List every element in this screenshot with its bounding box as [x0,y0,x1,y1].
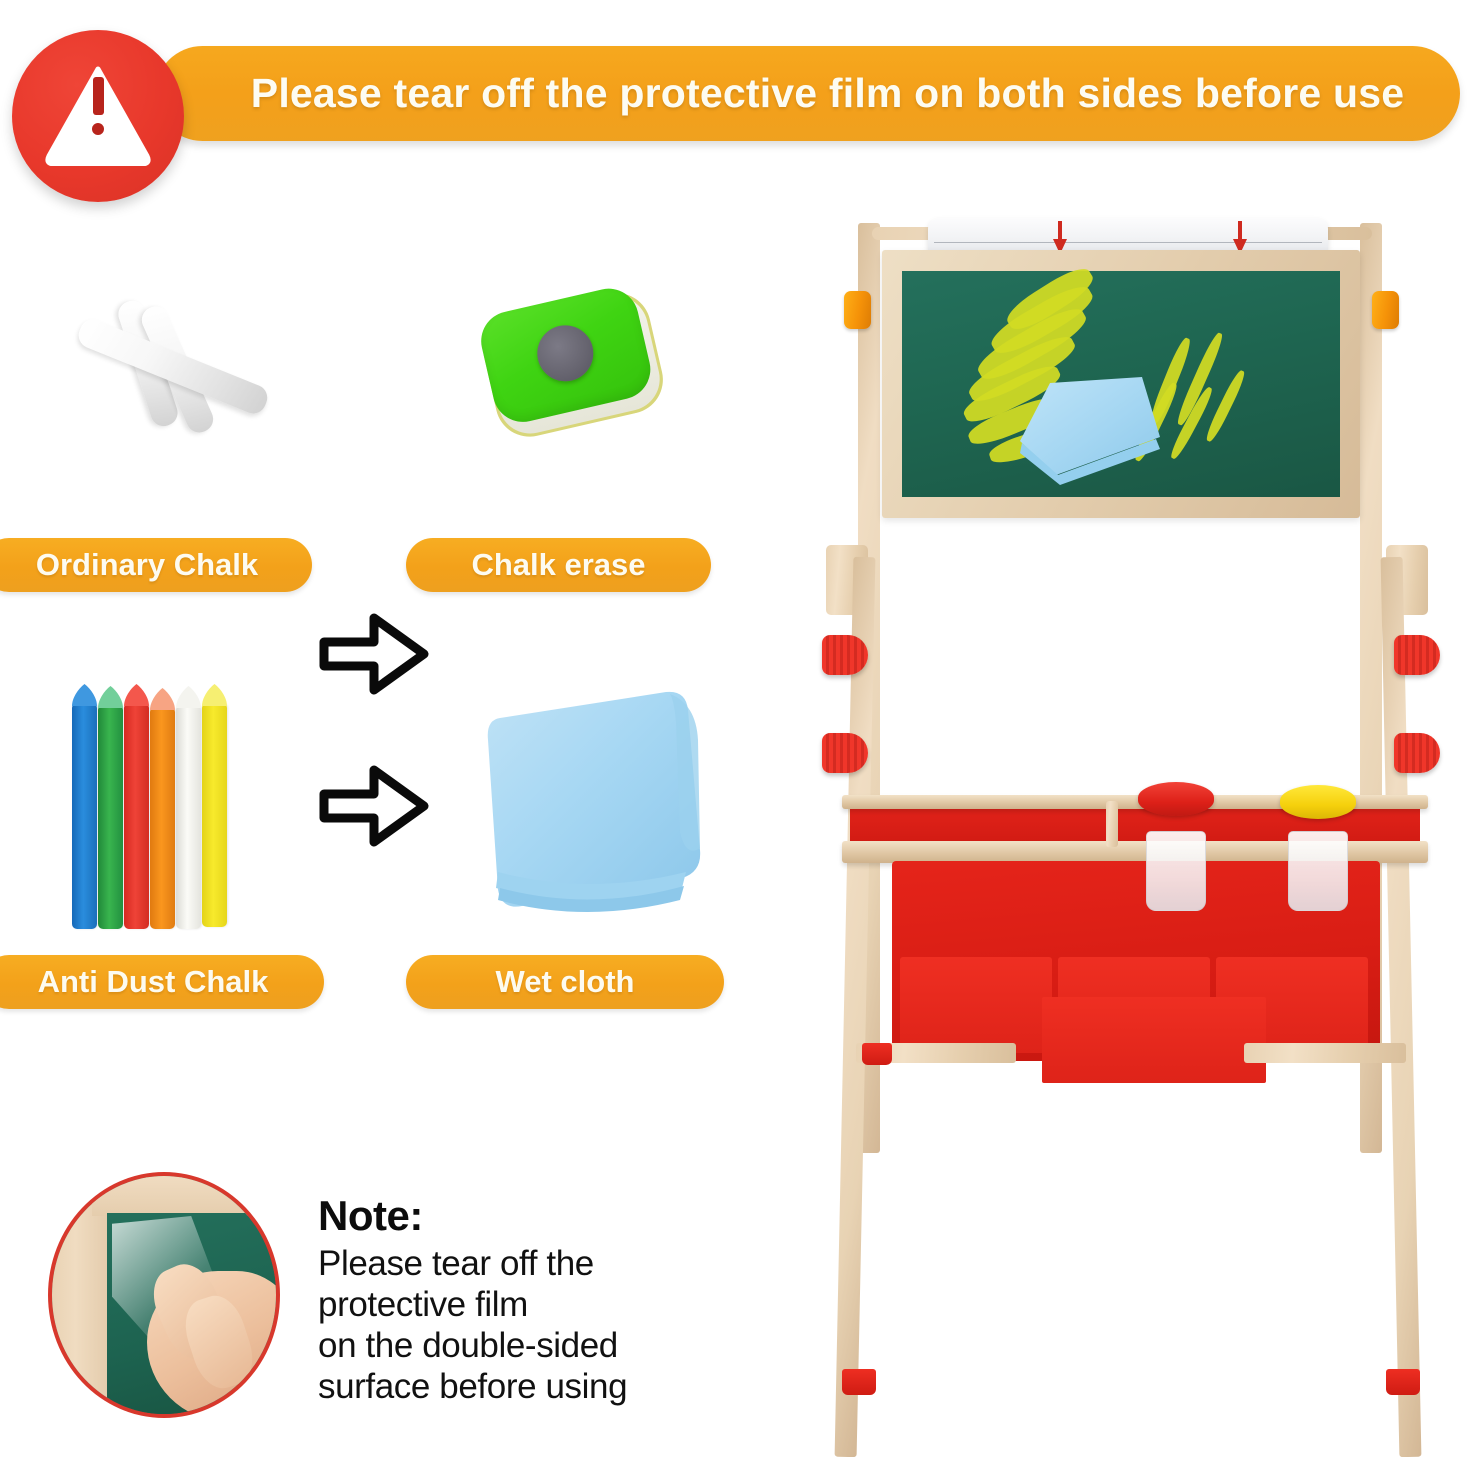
paint-cup-red-body [1146,831,1206,911]
chalk-white [176,706,201,929]
chalk-yellow [202,704,227,927]
kids-wooden-standing-easel [820,205,1460,1420]
red-foot-cap [862,1043,892,1065]
chalk-blue-tip [72,684,97,708]
paint-cup-yellow-body [1288,831,1348,911]
note-body: Please tear off the protective film on t… [318,1243,738,1407]
label-ordinary-chalk: Ordinary Chalk [0,538,312,592]
board-frame [882,250,1360,518]
paint-cup-yellow-lid [1280,785,1356,819]
banner-text: Please tear off the protective film on b… [195,46,1460,141]
chalk-mark [1203,369,1247,444]
note-line-3: on the double-sided [318,1325,738,1366]
row-anti-dust-chalk: Anti Dust Chalk Wet cloth [0,660,760,1030]
chalkboard-surface [902,271,1340,497]
infographic-canvas: Please tear off the protective film on b… [0,0,1482,1421]
chalk-red-tip [124,684,149,708]
bag-pocket [900,957,1052,1053]
chalk-yellow-tip [202,684,227,708]
lower-rail-right [1244,1043,1406,1063]
chalk-white-tip [176,686,201,710]
orange-knob[interactable] [1372,291,1399,329]
red-knob[interactable] [822,635,868,675]
chalk-eraser-illustration [477,280,708,481]
exclamation-dot [92,123,104,135]
anti-dust-chalk-illustration [72,676,262,938]
paper-roll-seam [934,242,1322,243]
orange-knob[interactable] [844,291,871,329]
eraser-magnet [532,320,599,387]
label-chalk-erase: Chalk erase [406,538,711,592]
blue-microfiber-cloth [1014,375,1162,485]
note-title: Note: [318,1192,423,1240]
easel-rear-leg-right [1381,557,1422,1457]
chalk-blue [72,704,97,929]
label-anti-dust-chalk: Anti Dust Chalk [0,955,324,1009]
peeling-film-photo [48,1172,280,1418]
chalk-orange-tip [150,688,175,712]
bag-front-flap [1042,997,1266,1083]
tray-divider [1106,801,1118,847]
warning-triangle-icon [12,30,184,202]
row-ordinary-chalk: Ordinary Chalk Chalk erase [0,270,760,610]
red-knob[interactable] [822,733,868,773]
chalk-green [98,706,123,929]
note-line-1: Please tear off the [318,1243,738,1284]
red-foot-cap [1386,1369,1420,1395]
photo-wood-top [92,1176,280,1216]
chalk-orange [150,708,175,929]
label-wet-cloth: Wet cloth [406,955,724,1009]
right-arrow-outline-icon [318,760,430,852]
note-line-4: surface before using [318,1366,738,1407]
red-knob[interactable] [1394,635,1440,675]
warning-banner: Please tear off the protective film on b… [0,18,1482,168]
chalk-red [124,704,149,929]
paint-cup-red-lid [1138,782,1214,816]
exclamation-bar [93,77,104,115]
note-line-2: protective film [318,1284,738,1325]
wet-cloth-illustration [470,682,720,922]
ordinary-chalk-illustration [55,290,305,475]
red-foot-cap [842,1369,876,1395]
chalk-green-tip [98,686,123,710]
red-knob[interactable] [1394,733,1440,773]
